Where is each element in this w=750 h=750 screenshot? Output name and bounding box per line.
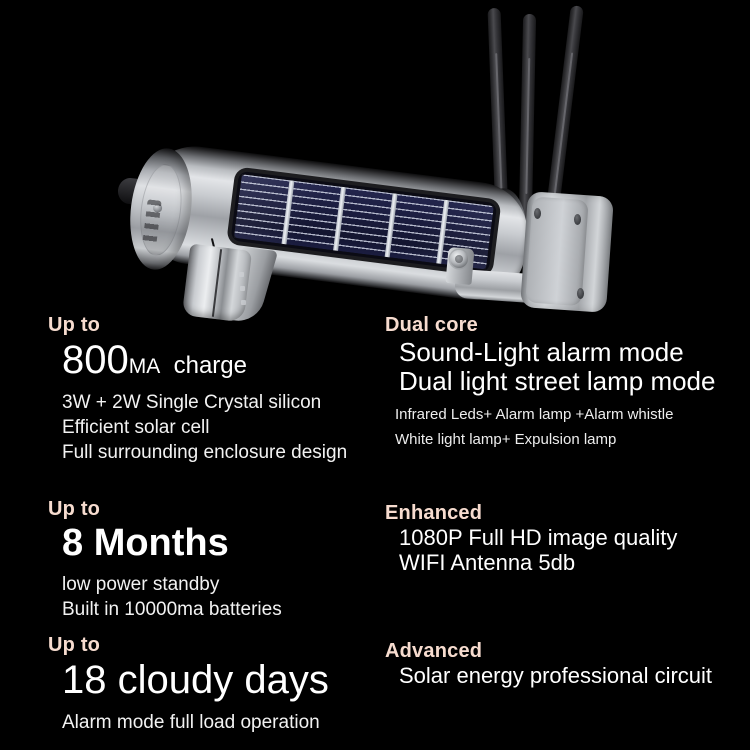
charge-detail-line: 3W + 2W Single Crystal silicon: [62, 390, 347, 415]
feature-block-enhanced: Enhanced 1080P Full HD image quality WIF…: [385, 502, 677, 575]
lamp-module: [182, 243, 252, 322]
lamp-module-seam: [212, 249, 222, 317]
dual-core-headline: Sound-Light alarm mode: [399, 338, 715, 367]
feature-block-advanced: Advanced Solar energy professional circu…: [385, 640, 712, 689]
advanced-headline: Solar energy professional circuit: [399, 664, 712, 689]
cloudy-eyebrow: Up to: [48, 634, 329, 656]
standby-eyebrow: Up to: [48, 498, 282, 520]
standby-detail-line: low power standby: [62, 572, 282, 597]
cloudy-headline: 18 cloudy days: [62, 658, 329, 703]
product-feature-infographic: Up to 800MA charge 3W + 2W Single Crysta…: [0, 0, 750, 750]
cloudy-detail-line: Alarm mode full load operation: [62, 710, 329, 735]
enhanced-headline: 1080P Full HD image quality: [399, 526, 677, 551]
charge-detail-line: Full surrounding enclosure design: [62, 440, 347, 465]
charge-suffix: charge: [174, 352, 247, 379]
screw-hole: [534, 208, 541, 219]
dual-core-eyebrow: Dual core: [385, 314, 715, 336]
standby-headline: 8 Months: [62, 522, 282, 565]
feature-block-cloudy-days: Up to 18 cloudy days Alarm mode full loa…: [48, 634, 329, 735]
standby-detail-line: Built in 10000ma batteries: [62, 597, 282, 622]
led-indicator: [240, 286, 245, 291]
charge-detail-line: Efficient solar cell: [62, 415, 347, 440]
advanced-eyebrow: Advanced: [385, 640, 712, 662]
dual-core-detail-line: White light lamp+ Expulsion lamp: [395, 428, 715, 452]
screw-hole: [574, 214, 581, 225]
charge-eyebrow: Up to: [48, 314, 347, 336]
charge-headline: 800MA charge: [62, 338, 347, 383]
led-indicator: [239, 272, 244, 277]
charge-unit: MA: [129, 355, 161, 378]
dual-core-headline: Dual light street lamp mode: [399, 367, 715, 396]
product-image: [0, 0, 750, 330]
screw-hole: [577, 288, 584, 299]
feature-block-dual-core: Dual core Sound-Light alarm mode Dual li…: [385, 314, 715, 452]
enhanced-headline: WIFI Antenna 5db: [399, 551, 677, 576]
enhanced-eyebrow: Enhanced: [385, 502, 677, 524]
feature-block-charge: Up to 800MA charge 3W + 2W Single Crysta…: [48, 314, 347, 466]
charge-value: 800: [62, 338, 129, 382]
feature-block-standby: Up to 8 Months low power standby Built i…: [48, 498, 282, 622]
led-indicator: [241, 300, 246, 305]
dual-core-detail-line: Infrared Leds+ Alarm lamp +Alarm whistle: [395, 403, 715, 427]
pivot-bolt-center: [455, 255, 463, 263]
